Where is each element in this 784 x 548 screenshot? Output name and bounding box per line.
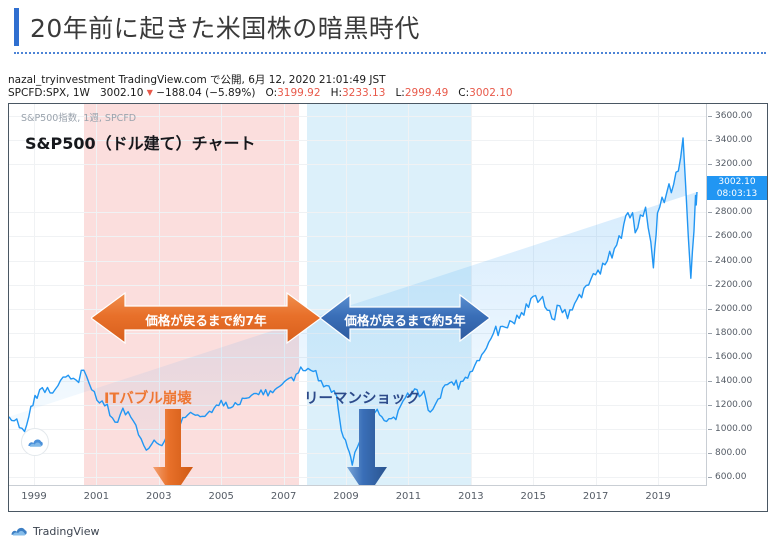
price-axis-tick: 1400.00 — [715, 376, 752, 386]
low-label: L: — [395, 87, 404, 99]
open-value: 3199.92 — [277, 87, 320, 99]
chart-title: S&P500（ドル建て）チャート — [25, 130, 255, 154]
quote-line: SPCFD:SPX, 1W 3002.10 ▼ −188.04 (−5.89%)… — [8, 87, 768, 100]
price-axis-tick: 2000.00 — [715, 304, 752, 314]
annotation-label-it-bubble: ITバブル崩壊 — [104, 387, 192, 408]
high-value: 3233.13 — [342, 87, 385, 99]
close-label: C: — [458, 87, 469, 99]
header-accent-bar — [14, 8, 19, 46]
down-triangle-icon: ▼ — [147, 88, 153, 97]
price-axis-tick: 2200.00 — [715, 280, 752, 290]
tradingview-watermark-badge — [21, 428, 49, 456]
price-axis-tick: 1200.00 — [715, 400, 752, 410]
footer-brand-label: TradingView — [33, 525, 99, 538]
annotation-label-lehman: リーマンショック — [304, 387, 420, 408]
tradingview-cloud-icon — [10, 524, 28, 538]
close-value: 3002.10 — [469, 87, 512, 99]
publish-info: nazal_tryinvestment TradingView.com で公開,… — [8, 74, 768, 87]
time-axis-tick: 2005 — [208, 491, 233, 502]
time-axis-tick: 1999 — [21, 491, 46, 502]
price-axis-tick: 1600.00 — [715, 352, 752, 362]
price-axis-tick: 3600.00 — [715, 111, 752, 121]
tradingview-cloud-icon — [27, 436, 44, 449]
price-axis-tick: 1000.00 — [715, 424, 752, 434]
high-label: H: — [331, 87, 342, 99]
price-axis-tick: 800.00 — [715, 448, 747, 458]
time-axis-tick: 2007 — [271, 491, 296, 502]
quote-change: −188.04 (−5.89%) — [156, 87, 255, 99]
time-axis-tick: 2011 — [396, 491, 421, 502]
time-axis-tick: 2003 — [146, 491, 171, 502]
low-value: 2999.49 — [405, 87, 448, 99]
chart-container[interactable]: S&P500指数, 1週, SPCFD S&P500（ドル建て）チャート ITバ… — [8, 103, 768, 512]
time-axis-tick: 2013 — [458, 491, 483, 502]
time-axis-tick: 2015 — [521, 491, 546, 502]
current-price-value: 3002.10 — [707, 177, 767, 189]
time-axis-tick: 2009 — [333, 491, 358, 502]
series-legend: S&P500指数, 1週, SPCFD — [21, 110, 136, 124]
quote-symbol: SPCFD:SPX, 1W — [8, 87, 90, 99]
price-axis-tick: 2600.00 — [715, 231, 752, 241]
page-header: 20年前に起きた米国株の暗黒時代 — [0, 0, 784, 58]
price-axis[interactable]: 3600.003400.003200.002800.002600.002400.… — [706, 104, 767, 486]
current-price-badge: 3002.10 08:03:13 — [707, 176, 767, 200]
price-axis-tick: 2400.00 — [715, 256, 752, 266]
page-title: 20年前に起きた米国株の暗黒時代 — [30, 9, 420, 45]
footer-brand[interactable]: TradingView — [10, 524, 99, 538]
time-axis-tick: 2019 — [645, 491, 670, 502]
chart-meta: nazal_tryinvestment TradingView.com で公開,… — [8, 74, 768, 99]
price-axis-tick: 3200.00 — [715, 159, 752, 169]
current-price-time: 08:03:13 — [707, 189, 767, 201]
chart-plot-area[interactable]: S&P500指数, 1週, SPCFD S&P500（ドル建て）チャート ITバ… — [9, 104, 707, 486]
price-axis-tick: 600.00 — [715, 472, 747, 482]
time-axis[interactable]: 1999200120032005200720092011201320152017… — [9, 485, 707, 511]
price-axis-tick: 3400.00 — [715, 135, 752, 145]
price-line-chart — [9, 104, 707, 486]
open-label: O: — [265, 87, 277, 99]
time-axis-tick: 2001 — [84, 491, 109, 502]
quote-last: 3002.10 — [100, 87, 143, 99]
time-axis-tick: 2017 — [583, 491, 608, 502]
price-axis-tick: 2800.00 — [715, 207, 752, 217]
price-axis-tick: 1800.00 — [715, 328, 752, 338]
header-divider — [14, 52, 766, 54]
